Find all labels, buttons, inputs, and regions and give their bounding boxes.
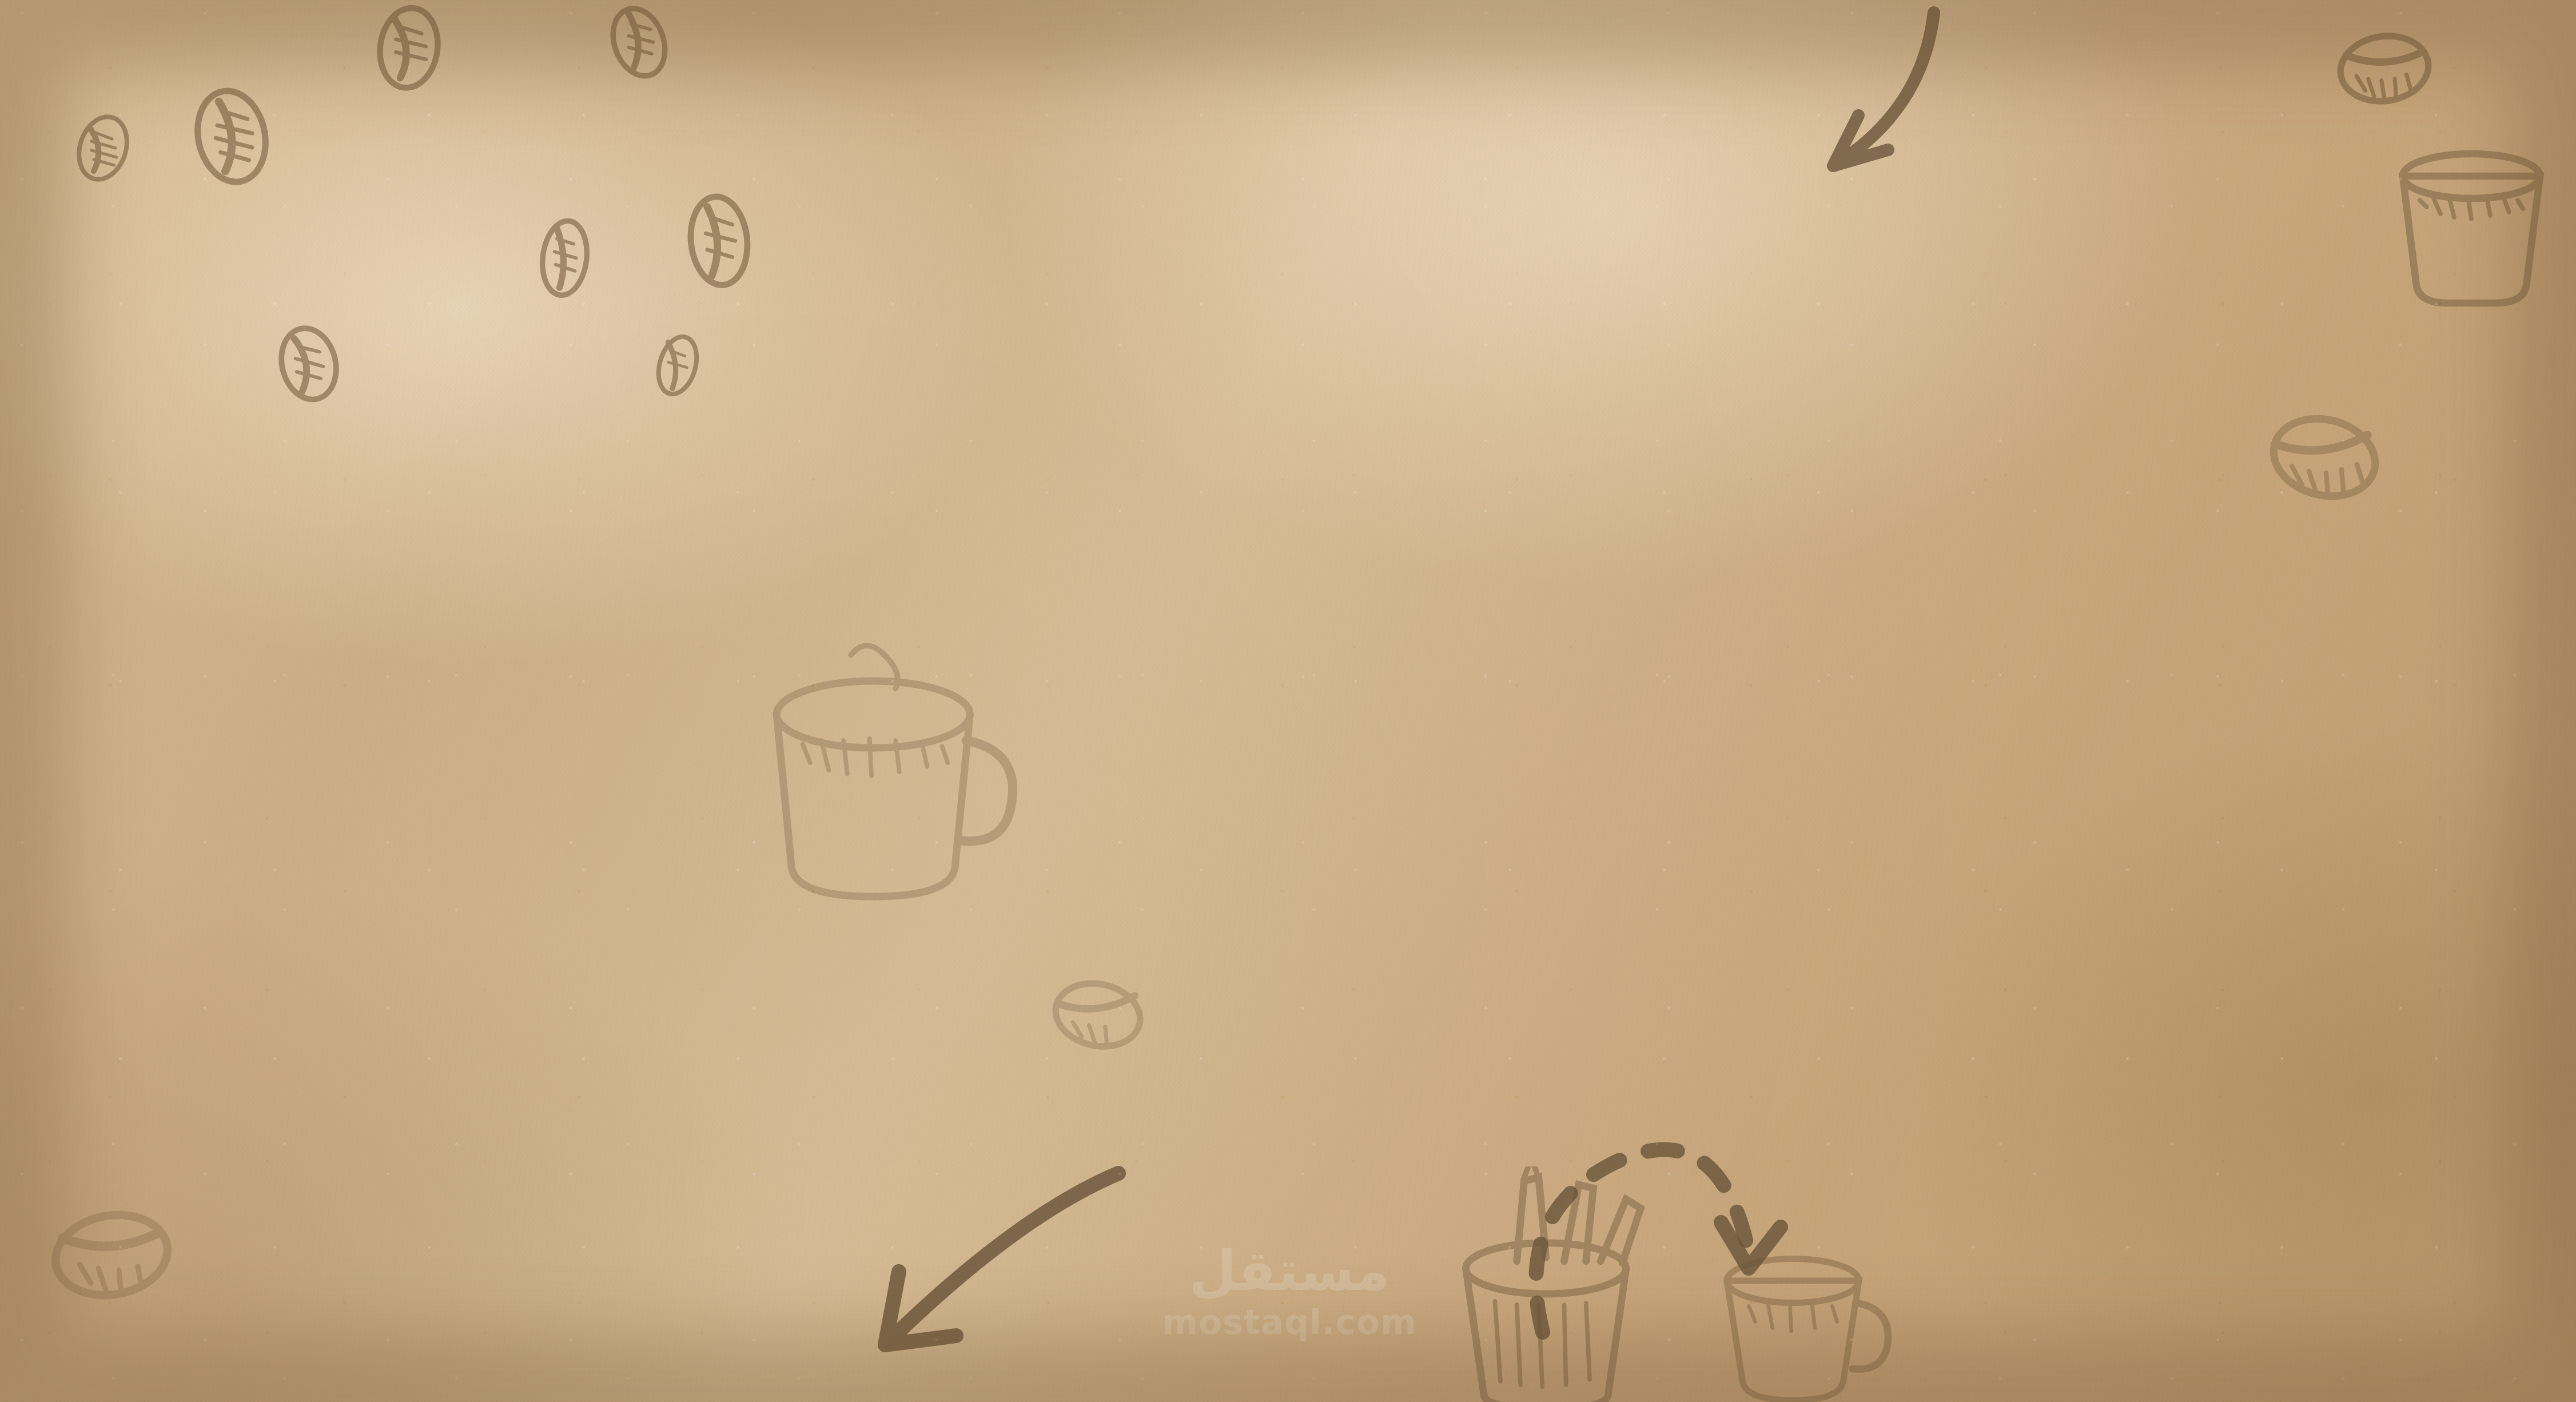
watermark: مستقل mostaql.com <box>1089 1244 1490 1347</box>
coffee-bean-doodle <box>366 0 452 97</box>
coffee-bean-doodle <box>183 86 280 189</box>
watermark-arabic: مستقل <box>1089 1244 1490 1299</box>
coffee-bean-doodle <box>646 326 709 406</box>
coffee-bean-doodle <box>69 111 137 186</box>
coffee-bean-doodle <box>46 1195 177 1315</box>
coffee-bean-doodle <box>600 0 678 86</box>
coffee-bean-doodle <box>2264 400 2384 515</box>
watermark-latin: mostaql.com <box>1089 1299 1490 1347</box>
curved-arrow <box>812 1132 1166 1372</box>
coffee-bean-doodle <box>675 189 763 294</box>
coffee-bean-doodle <box>526 212 603 306</box>
coffee-pot-doodle <box>726 629 1046 926</box>
coffee-pot-doodle <box>1675 1218 1904 1402</box>
curved-arrow <box>1698 6 1950 200</box>
coffee-bean-doodle <box>1046 966 1149 1064</box>
pen-cup-doodle <box>1401 1166 1698 1402</box>
coffee-bean-doodle <box>2333 23 2436 114</box>
dashed-curved-arrow <box>1504 1104 1801 1349</box>
coffee-bean-doodle <box>269 320 349 409</box>
poster-canvas: عمل محتوى تسويقي <box>0 0 2576 1402</box>
coffee-cup-doodle <box>2379 132 2567 320</box>
